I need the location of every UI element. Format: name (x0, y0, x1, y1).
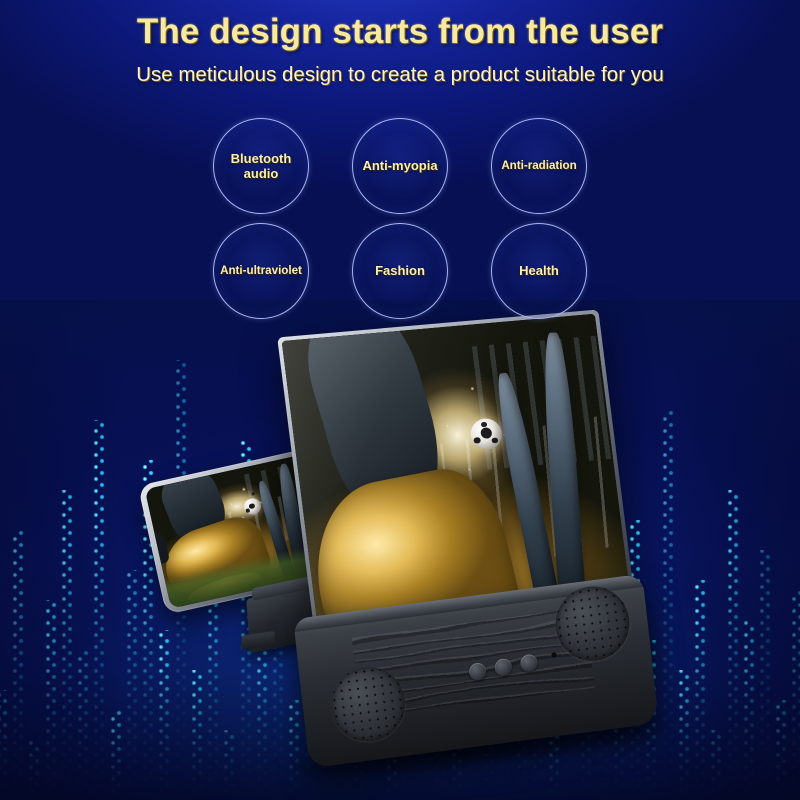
equalizer-column (93, 300, 105, 800)
equalizer-bar (743, 620, 755, 800)
equalizer-column (710, 300, 722, 800)
equalizer-column (61, 300, 73, 800)
equalizer-column (45, 300, 57, 800)
equalizer-column (126, 300, 138, 800)
equalizer-column (727, 300, 739, 800)
feature-label: Anti-ultraviolet (215, 264, 307, 278)
equalizer-column (28, 300, 40, 800)
equalizer-bar (191, 670, 203, 800)
equalizer-column (694, 300, 706, 800)
equalizer-column (678, 300, 690, 800)
status-led (551, 652, 557, 658)
page-title: The design starts from the user (0, 12, 800, 52)
feature-label: Anti-myopia (357, 158, 442, 173)
equalizer-bar (110, 710, 122, 800)
feature-circles: Bluetooth audio Anti-myopia Anti-radiati… (0, 118, 800, 319)
feature-label: Fashion (370, 263, 430, 278)
feature-label: Anti-radiation (496, 159, 581, 173)
page-subtitle: Use meticulous design to create a produc… (0, 63, 800, 87)
equalizer-bar (694, 580, 706, 800)
feature-label: Bluetooth audio (214, 151, 308, 182)
equalizer-bar (678, 670, 690, 800)
equalizer-bar (223, 730, 235, 800)
equalizer-bar (28, 740, 40, 800)
equalizer-bar (775, 700, 787, 800)
feature-label: Health (514, 263, 564, 278)
equalizer-bar (61, 490, 73, 800)
equalizer-bar (45, 600, 57, 800)
equalizer-bar (126, 570, 138, 800)
power-button[interactable] (468, 662, 487, 682)
equalizer-column (743, 300, 755, 800)
play-pause-button[interactable] (494, 658, 513, 678)
product-banner: The design starts from the user Use meti… (0, 0, 800, 800)
equalizer-bar (93, 420, 105, 800)
equalizer-bar (0, 690, 8, 800)
feature-row-1: Bluetooth audio Anti-myopia Anti-radiati… (0, 118, 800, 214)
feature-circle-anti-myopia[interactable]: Anti-myopia (352, 118, 448, 214)
equalizer-bar (759, 550, 771, 800)
equalizer-bar (727, 490, 739, 800)
equalizer-bar (12, 530, 24, 800)
feature-circle-bluetooth-audio[interactable]: Bluetooth audio (213, 118, 309, 214)
equalizer-column (0, 300, 8, 800)
equalizer-bar (710, 730, 722, 800)
equalizer-bar (158, 630, 170, 800)
equalizer-bar (77, 650, 89, 800)
equalizer-column (12, 300, 24, 800)
feature-circle-fashion[interactable]: Fashion (352, 223, 448, 319)
feature-circle-anti-ultraviolet[interactable]: Anti-ultraviolet (213, 223, 309, 319)
equalizer-column (759, 300, 771, 800)
feature-circle-anti-radiation[interactable]: Anti-radiation (491, 118, 587, 214)
equalizer-column (791, 300, 800, 800)
equalizer-bar (791, 590, 800, 800)
heading-block: The design starts from the user Use meti… (0, 12, 800, 87)
equalizer-column (110, 300, 122, 800)
equalizer-column (77, 300, 89, 800)
feature-row-2: Anti-ultraviolet Fashion Health (0, 223, 800, 319)
equalizer-column (775, 300, 787, 800)
equalizer-column (662, 300, 674, 800)
mode-button[interactable] (519, 653, 538, 673)
feature-circle-health[interactable]: Health (491, 223, 587, 319)
